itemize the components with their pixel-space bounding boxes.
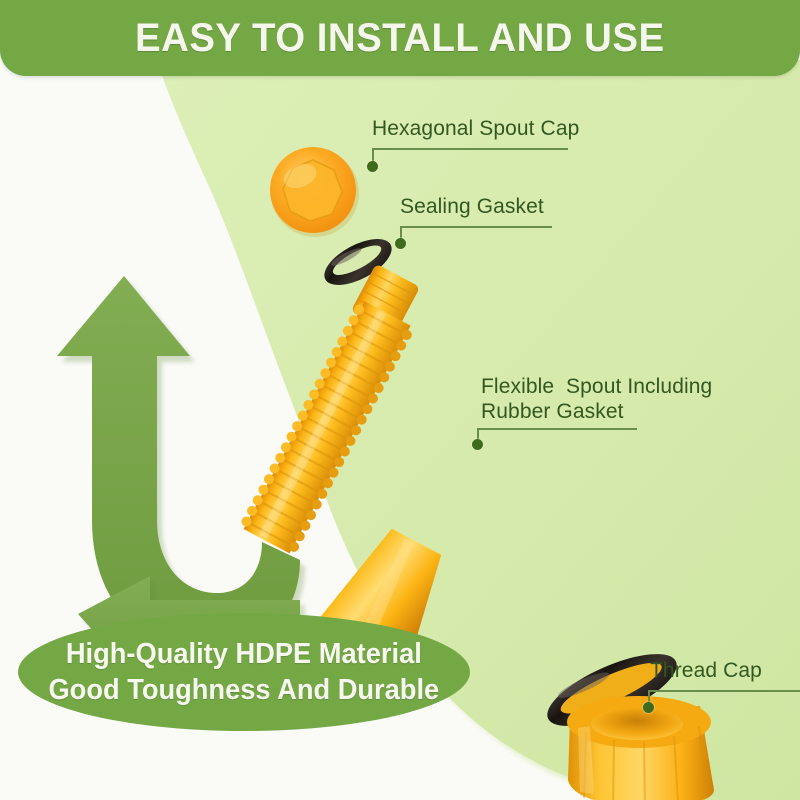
callout-thread-cap: Thread Cap (650, 658, 762, 683)
infographic-canvas: EASY TO INSTALL AND USE (0, 0, 800, 800)
leader-line-horizontal (372, 148, 568, 150)
flexible-bellows-spout-part (238, 264, 461, 667)
callout-label-flexible-spout: Flexible Spout Including Rubber Gasket (481, 374, 712, 424)
leader-line-horizontal (477, 428, 637, 430)
callout-label-sealing-gasket: Sealing Gasket (400, 194, 544, 219)
callout-sealing-gasket: Sealing Gasket (400, 194, 544, 219)
leader-dot (472, 439, 483, 450)
feature-pill-text: High-Quality HDPE Material Good Toughnes… (49, 636, 440, 708)
hexagonal-spout-cap-part (270, 147, 359, 237)
callout-hexagonal-spout-cap: Hexagonal Spout Cap (372, 116, 579, 141)
header-banner: EASY TO INSTALL AND USE (0, 0, 800, 76)
leader-dot (367, 161, 378, 172)
feature-pill: High-Quality HDPE Material Good Toughnes… (18, 613, 470, 731)
leader-line-horizontal (400, 226, 552, 228)
leader-dot (643, 702, 654, 713)
page-title: EASY TO INSTALL AND USE (135, 16, 665, 61)
callout-flexible-spout: Flexible Spout Including Rubber Gasket (481, 374, 712, 424)
leader-line-horizontal (648, 690, 800, 692)
callout-label-hexagonal-spout-cap: Hexagonal Spout Cap (372, 116, 579, 141)
callout-label-thread-cap: Thread Cap (650, 658, 762, 683)
thread-cap-part (567, 696, 714, 800)
leader-dot (395, 238, 406, 249)
